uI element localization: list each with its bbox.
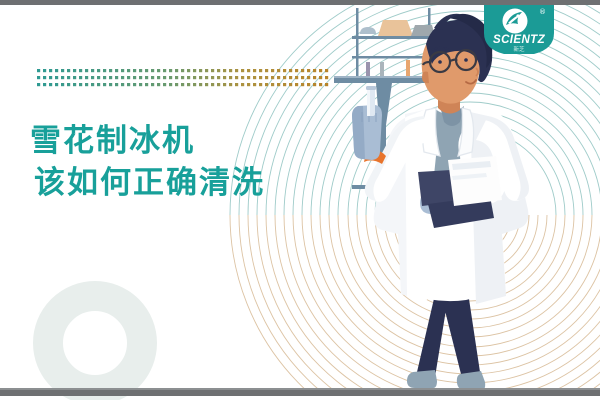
headline-block: 雪花制冰机 该如何正确清洗 [30, 120, 265, 204]
trademark-mark: ® [539, 8, 546, 16]
dot-grid-decoration [37, 69, 331, 90]
logo-subtext: 新芝 [513, 45, 525, 53]
pale-ring-decoration [33, 281, 157, 400]
headline-line-1: 雪花制冰机 [30, 120, 265, 162]
bottom-frame-bar [0, 390, 600, 396]
scientist-character [300, 0, 600, 396]
headline-line-2: 该如何正确清洗 [34, 162, 265, 204]
promo-banner: 雪花制冰机 该如何正确清洗 ® SCIENTZ 新芝 [0, 0, 600, 400]
top-frame-bar [0, 0, 600, 5]
scientz-logo[interactable]: ® SCIENTZ 新芝 [484, 3, 554, 55]
logo-wordmark: SCIENTZ [493, 34, 546, 46]
